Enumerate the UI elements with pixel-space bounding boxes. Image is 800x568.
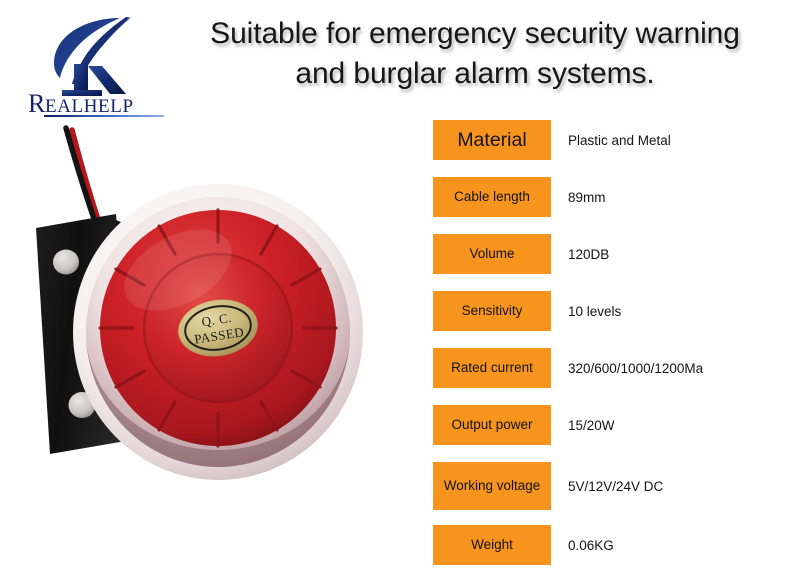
- spec-label-material: Material: [433, 120, 551, 160]
- spec-label-output-power: Output power: [433, 405, 551, 445]
- spacer: [433, 331, 793, 348]
- spec-value-volume: 120DB: [551, 247, 609, 262]
- product-image-siren: Q. C. PASSED: [0, 110, 420, 568]
- spec-label-working-voltage: Working voltage: [433, 462, 551, 510]
- specification-table: Material Plastic and Metal Cable length …: [433, 120, 793, 565]
- spec-row-output-power: Output power 15/20W: [433, 405, 793, 445]
- spec-value-sensitivity: 10 levels: [551, 304, 621, 319]
- spec-label-rated-current: Rated current: [433, 348, 551, 388]
- bracket-screw-hole-top: [53, 250, 79, 275]
- satellite-r-icon: R EALHELP: [14, 12, 184, 117]
- spacer: [433, 388, 793, 405]
- spec-row-working-voltage: Working voltage 5V/12V/24V DC: [433, 462, 793, 510]
- spacer: [433, 160, 793, 177]
- spacer: [433, 274, 793, 291]
- spec-row-rated-current: Rated current 320/600/1000/1200Ma: [433, 348, 793, 388]
- spec-value-material: Plastic and Metal: [551, 133, 671, 148]
- realhelp-logo: R EALHELP: [14, 12, 184, 117]
- spacer: [433, 217, 793, 234]
- spec-row-weight: Weight 0.06KG: [433, 525, 793, 565]
- spec-value-rated-current: 320/600/1000/1200Ma: [551, 361, 703, 376]
- spec-row-material: Material Plastic and Metal: [433, 120, 793, 160]
- spacer: [433, 510, 793, 525]
- spec-label-weight: Weight: [433, 525, 551, 565]
- spec-value-cable-length: 89mm: [551, 190, 606, 205]
- headline: Suitable for emergency security warning …: [160, 14, 790, 93]
- spec-row-volume: Volume 120DB: [433, 234, 793, 274]
- spacer: [433, 445, 793, 462]
- spec-row-cable-length: Cable length 89mm: [433, 177, 793, 217]
- spec-value-weight: 0.06KG: [551, 538, 614, 553]
- spec-value-working-voltage: 5V/12V/24V DC: [551, 479, 663, 494]
- siren-illustration: Q. C. PASSED: [0, 110, 420, 568]
- spec-label-volume: Volume: [433, 234, 551, 274]
- spec-label-sensitivity: Sensitivity: [433, 291, 551, 331]
- spec-label-cable-length: Cable length: [433, 177, 551, 217]
- headline-line-2: and burglar alarm systems.: [160, 54, 790, 94]
- headline-line-1: Suitable for emergency security warning: [160, 14, 790, 54]
- product-banner: R EALHELP Suitable for emergency securit…: [0, 0, 800, 568]
- spec-row-sensitivity: Sensitivity 10 levels: [433, 291, 793, 331]
- spec-value-output-power: 15/20W: [551, 418, 615, 433]
